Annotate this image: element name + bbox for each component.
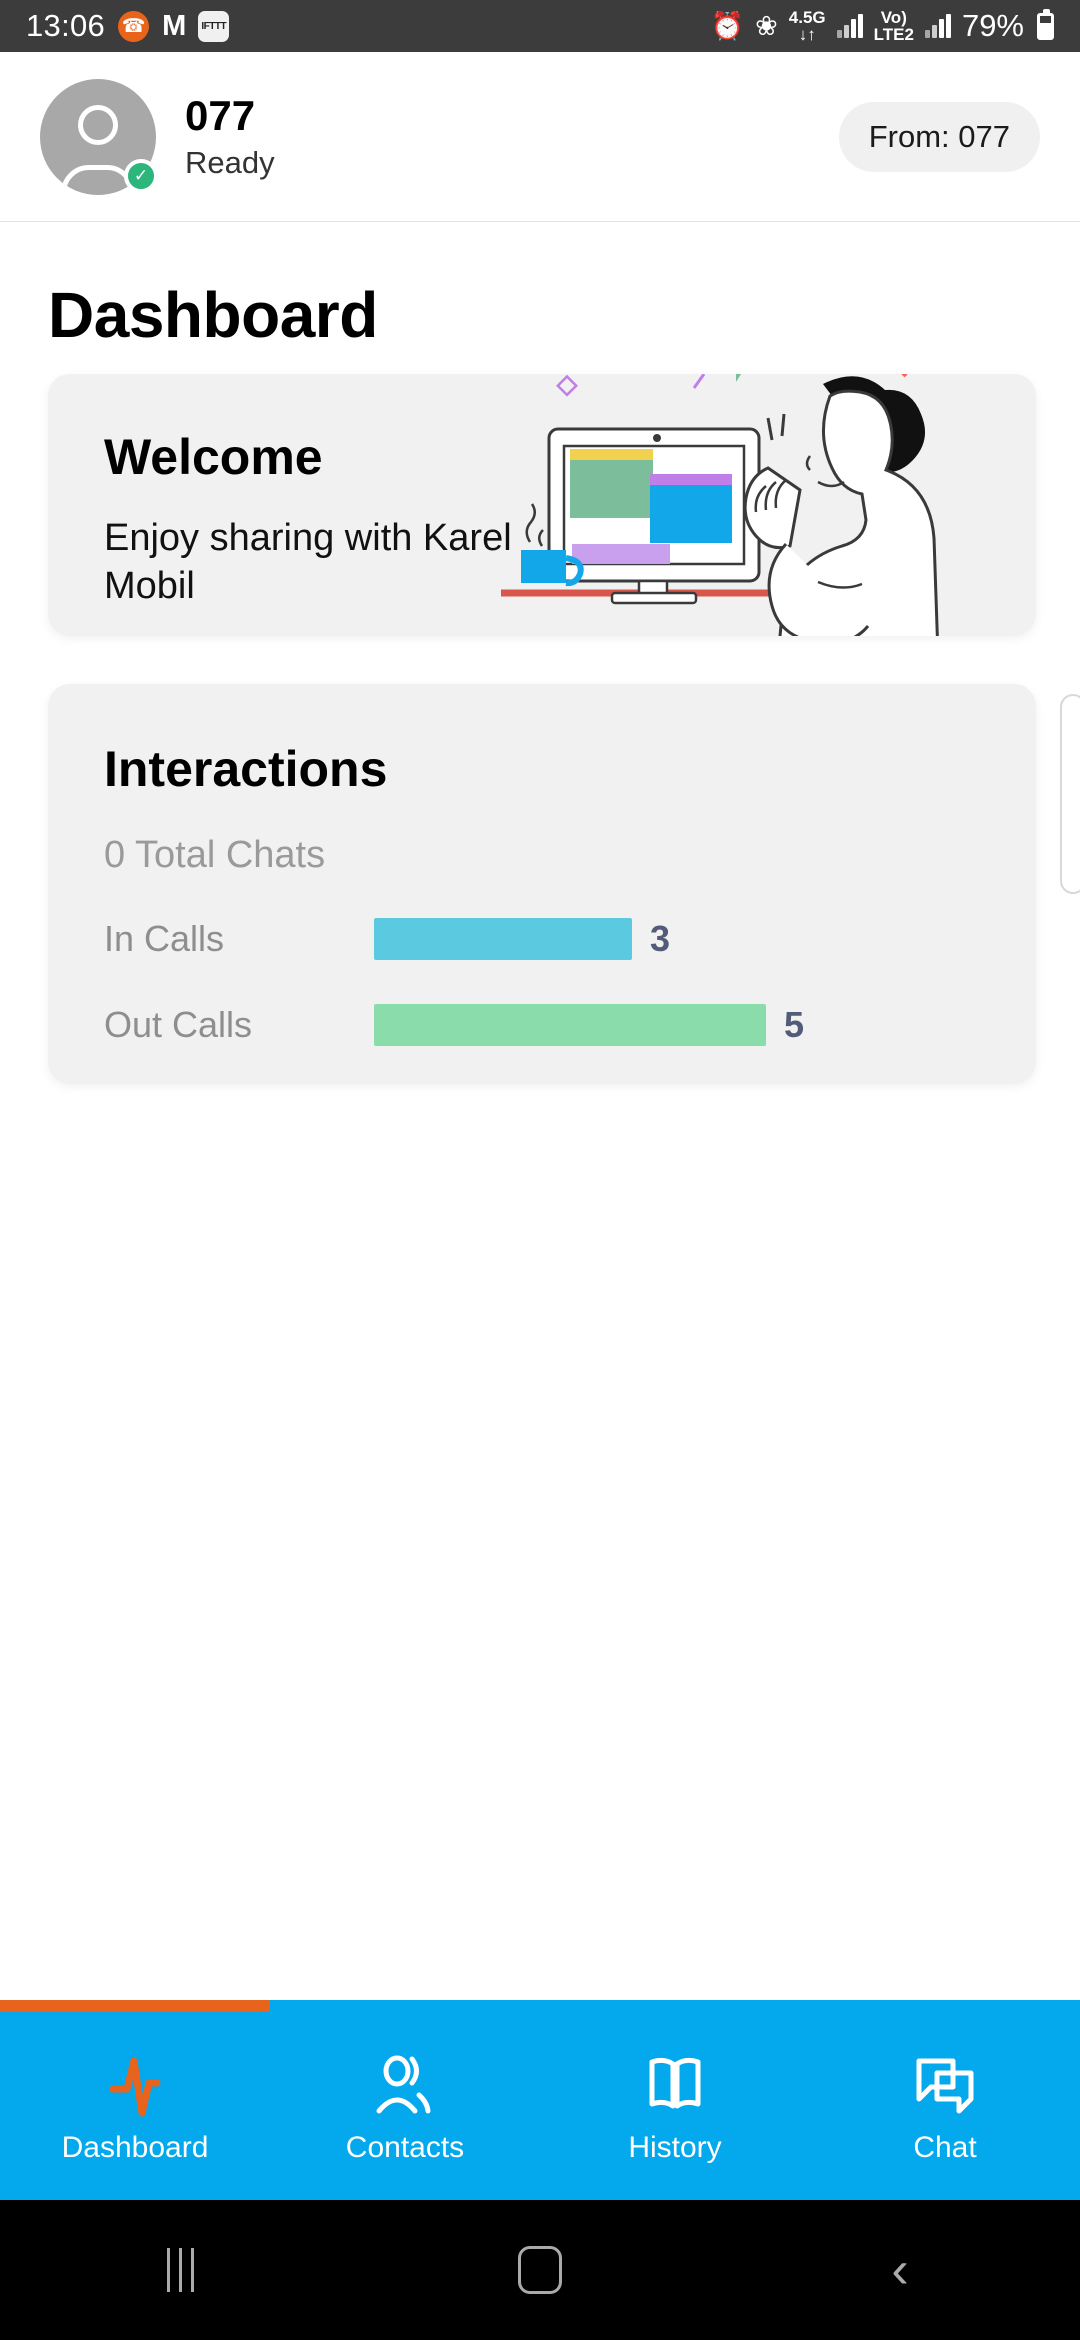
bottom-navigation: Dashboard Contacts History: [0, 2000, 1080, 2200]
chart-row-out-calls: Out Calls 5: [104, 1001, 980, 1049]
contacts-person-icon: [369, 2049, 441, 2121]
main-content: Dashboard Welcome Enjoy sharing with Kar…: [0, 222, 1080, 1084]
status-badge: Ready: [185, 145, 275, 181]
recents-icon[interactable]: [90, 2200, 270, 2340]
status-bar-right: ⏰ ❀ 4.5G ↓↑ Vo) LTE2 79%: [711, 8, 1054, 44]
status-bar-clock: 13:06: [26, 8, 105, 44]
bar-track: 3: [374, 918, 804, 960]
user-name: 077: [185, 92, 275, 139]
signal-bars-sim1: [837, 14, 863, 38]
bar-label: Out Calls: [104, 1004, 374, 1046]
status-bar-left: 13:06 ☎ M IFTTT: [26, 8, 229, 44]
activity-pulse-icon: [99, 2049, 171, 2121]
bar-label: In Calls: [104, 918, 374, 960]
network-primary-top: 4.5G: [789, 9, 826, 26]
nav-label: Contacts: [346, 2131, 464, 2165]
bluetooth-icon: ❀: [755, 13, 778, 40]
total-chats-label: 0 Total Chats: [104, 834, 980, 877]
welcome-text: Welcome Enjoy sharing with Karel Mobil: [48, 374, 524, 611]
bar-fill-out-calls: [374, 1004, 766, 1046]
battery-percent: 79%: [962, 8, 1024, 44]
welcome-card[interactable]: Welcome Enjoy sharing with Karel Mobil: [48, 374, 1036, 636]
page-title: Dashboard: [0, 222, 1080, 374]
back-icon[interactable]: ‹: [810, 2200, 990, 2340]
network-secondary-top: Vo): [881, 9, 907, 26]
video-call-illustration: [466, 374, 1026, 636]
bar-fill-in-calls: [374, 918, 632, 960]
bar-track: 5: [374, 1004, 804, 1046]
bar-value: 3: [650, 918, 670, 960]
nav-item-chat[interactable]: Chat: [810, 2000, 1080, 2200]
nav-label: Chat: [913, 2131, 976, 2165]
network-secondary-bottom: LTE2: [874, 26, 914, 43]
from-chip[interactable]: From: 077: [839, 102, 1040, 172]
chat-bubbles-icon: [909, 2049, 981, 2121]
status-bar: 13:06 ☎ M IFTTT ⏰ ❀ 4.5G ↓↑ Vo) LTE2 79%: [0, 0, 1080, 52]
nav-item-history[interactable]: History: [540, 2000, 810, 2200]
welcome-subtitle: Enjoy sharing with Karel Mobil: [104, 514, 524, 611]
android-navigation-bar: ‹: [0, 2200, 1080, 2340]
nav-item-dashboard[interactable]: Dashboard: [0, 2000, 270, 2200]
network-type-primary: 4.5G ↓↑: [789, 9, 826, 44]
open-book-icon: [639, 2049, 711, 2121]
ifttt-icon: IFTTT: [198, 11, 229, 42]
nav-label: History: [628, 2131, 721, 2165]
welcome-title: Welcome: [104, 428, 524, 486]
alarm-icon: ⏰: [711, 13, 745, 40]
home-icon[interactable]: [450, 2200, 630, 2340]
check-circle-icon: ✓: [124, 159, 158, 193]
avatar[interactable]: ✓: [40, 79, 156, 195]
header-user-info: 077 Ready: [185, 92, 275, 181]
interactions-card[interactable]: Interactions 0 Total Chats In Calls 3 Ou…: [48, 684, 1036, 1084]
interactions-title: Interactions: [104, 740, 980, 798]
signal-bars-sim2: [925, 14, 951, 38]
network-type-secondary: Vo) LTE2: [874, 9, 914, 44]
gmail-icon: M: [162, 10, 185, 43]
chart-row-in-calls: In Calls 3: [104, 915, 980, 963]
network-primary-bottom: ↓↑: [799, 26, 816, 43]
nav-item-contacts[interactable]: Contacts: [270, 2000, 540, 2200]
nav-label: Dashboard: [62, 2131, 209, 2165]
active-tab-indicator: [0, 2000, 270, 2012]
next-card-peek[interactable]: [1060, 694, 1080, 894]
bar-value: 5: [784, 1004, 804, 1046]
battery-icon: [1037, 13, 1054, 40]
app-header: ✓ 077 Ready From: 077: [0, 52, 1080, 222]
phone-icon: ☎: [118, 11, 149, 42]
